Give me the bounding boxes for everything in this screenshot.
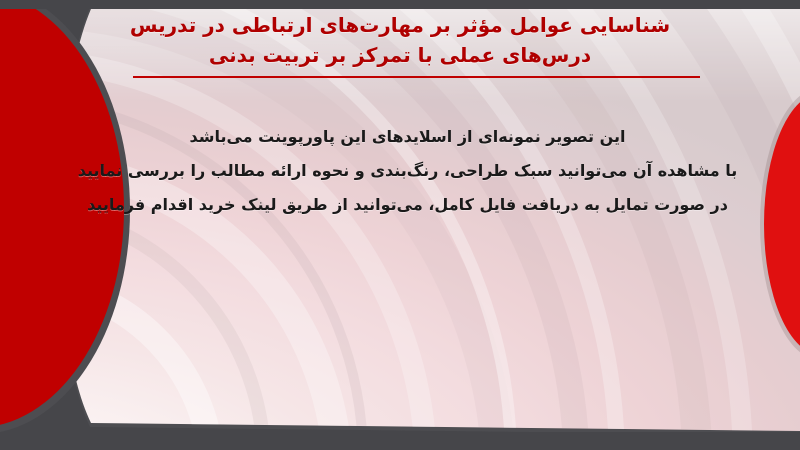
- frame-top-bar: [0, 0, 800, 9]
- title-divider-rule: [133, 76, 700, 78]
- presentation-slide: شناسایی عوامل مؤثر بر مهارت‌های ارتباطی …: [0, 0, 800, 450]
- slide-body-line-2: با مشاهده آن می‌توانید سبک طراحی، رنگ‌بن…: [75, 154, 740, 188]
- slide-body-line-3: در صورت تمایل به دریافت فایل کامل، می‌تو…: [75, 188, 740, 222]
- slide-body-line-1: این تصویر نمونه‌ای از اسلایدهای این پاور…: [75, 120, 740, 154]
- frame-bottom-bar: [0, 432, 800, 450]
- slide-content: شناسایی عوامل مؤثر بر مهارت‌های ارتباطی …: [0, 0, 800, 450]
- slide-title-line-2: درس‌های عملی با تمرکز بر تربیت بدنی: [100, 40, 700, 70]
- slide-title-line-1: شناسایی عوامل مؤثر بر مهارت‌های ارتباطی …: [100, 10, 700, 40]
- slide-title: شناسایی عوامل مؤثر بر مهارت‌های ارتباطی …: [100, 10, 700, 70]
- slide-body: این تصویر نمونه‌ای از اسلایدهای این پاور…: [75, 120, 740, 222]
